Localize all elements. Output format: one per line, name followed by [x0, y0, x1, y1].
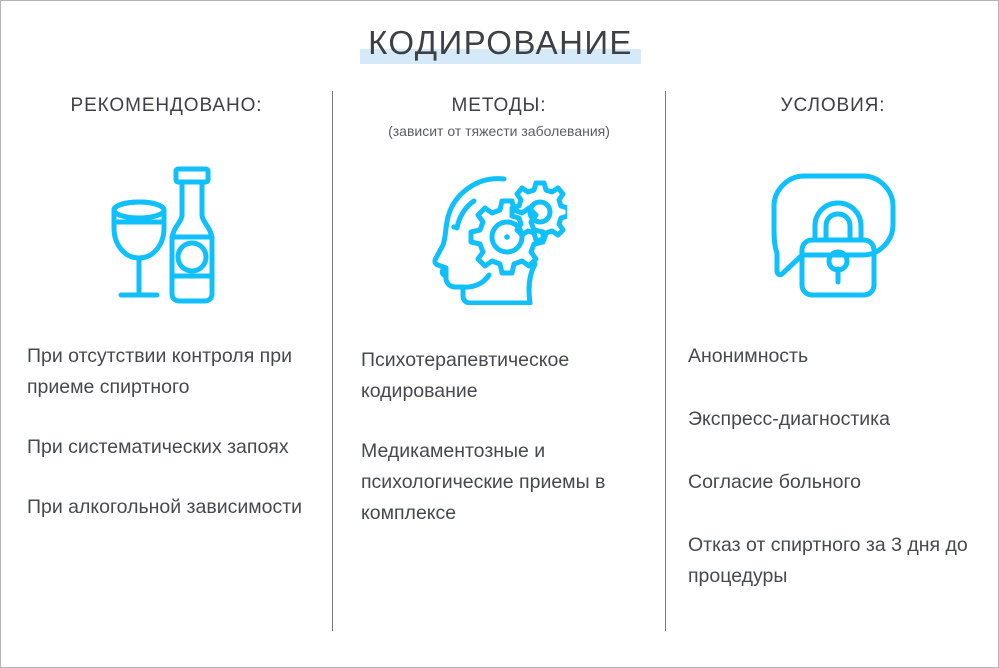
icon-area — [666, 155, 999, 315]
speech-bubble-with-padlock-icon — [766, 168, 901, 303]
wine-glass-and-bottle-icon — [102, 160, 232, 310]
list-item: Медикаментозные и психологические приемы… — [361, 436, 651, 529]
list-item: При отсутствии контроля при приеме спирт… — [27, 341, 313, 403]
head-with-gears-icon — [432, 165, 567, 305]
methods-list: Психотерапевтическое кодирование Медикам… — [361, 345, 651, 529]
column-recommended: РЕКОМЕНДОВАНО: — [1, 93, 332, 523]
title-text: КОДИРОВАНИЕ — [368, 24, 633, 61]
list-item: При систематических запоях — [27, 432, 313, 463]
column-heading: РЕКОМЕНДОВАНО: — [1, 93, 332, 119]
icon-area — [1, 155, 332, 315]
title-inner: КОДИРОВАНИЕ — [360, 21, 641, 65]
infographic-canvas: КОДИРОВАНИЕ РЕКОМЕНДОВАНО: — [0, 0, 999, 668]
page-title: КОДИРОВАНИЕ — [1, 21, 999, 65]
list-item: Согласие больного — [688, 467, 984, 498]
recommended-list: При отсутствии контроля при приеме спирт… — [27, 341, 313, 523]
column-methods: МЕТОДЫ: (зависит от тяжести заболевания) — [333, 93, 665, 529]
column-heading: МЕТОДЫ: — [333, 93, 665, 119]
column-heading: УСЛОВИЯ: — [666, 93, 999, 119]
list-item: Отказ от спиртного за 3 дня до процедуры — [688, 530, 984, 592]
list-item: Психотерапевтическое кодирование — [361, 345, 651, 407]
conditions-list: Анонимность Экспресс-диагностика Согласи… — [688, 341, 984, 592]
column-subheading: (зависит от тяжести заболевания) — [333, 121, 665, 141]
icon-area — [333, 155, 665, 315]
list-item: Экспресс-диагностика — [688, 404, 984, 435]
list-item: При алкогольной зависимости — [27, 492, 313, 523]
list-item: Анонимность — [688, 341, 984, 372]
column-conditions: УСЛОВИЯ: Анонимность Экспресс — [666, 93, 999, 624]
